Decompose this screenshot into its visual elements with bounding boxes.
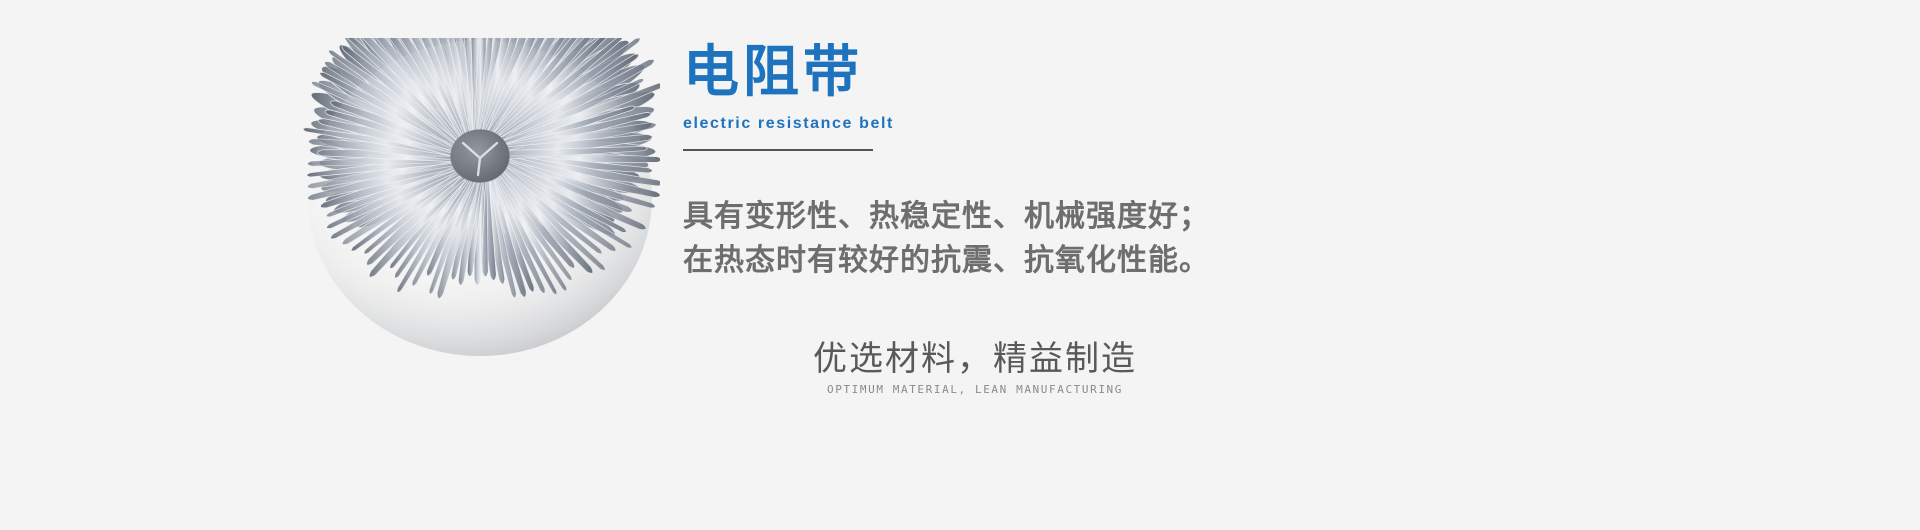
tagline-chinese: 优选材料，精益制造 [775,338,1175,380]
tagline-block: 优选材料，精益制造 OPTIMUM MATERIAL, LEAN MANUFAC… [775,338,1175,397]
page-subtitle: electric resistance belt [683,114,1803,134]
product-description: 具有变形性、热稳定性、机械强度好； 在热态时有较好的抗震、抗氧化性能。 [683,195,1803,283]
description-line-1: 具有变形性、热稳定性、机械强度好； [683,195,1803,239]
page-title: 电阻带 [683,42,1803,104]
title-block: 电阻带 electric resistance belt [683,42,1803,151]
banner-content: 电阻带 electric resistance belt 具有变形性、热稳定性、… [683,42,1803,492]
description-line-2: 在热态时有较好的抗震、抗氧化性能。 [683,239,1803,283]
product-banner: 电阻带 electric resistance belt 具有变形性、热稳定性、… [0,0,1920,530]
title-divider [683,149,873,151]
tagline-english: OPTIMUM MATERIAL, LEAN MANUFACTURING [775,382,1175,397]
product-image [300,38,660,378]
resistance-belt-illustration [300,38,660,378]
